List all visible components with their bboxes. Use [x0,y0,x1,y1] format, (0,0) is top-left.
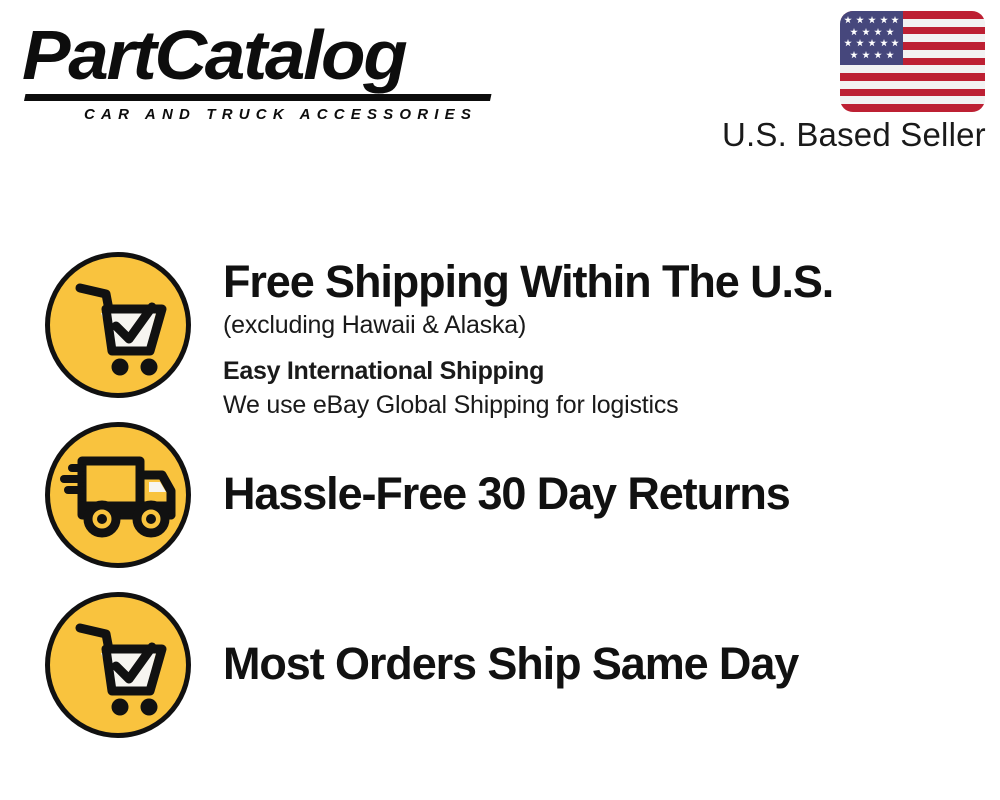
feature-text: Hassle-Free 30 Day Returns [223,420,1000,520]
feature-title: Most Orders Ship Same Day [223,638,1000,690]
feature-subtext: (excluding Hawaii & Alaska) [223,308,1000,342]
flag-stripe [840,96,985,104]
feature-subtext: Easy International Shipping [223,354,1000,388]
feature-text: Most Orders Ship Same Day [223,590,1000,690]
feature-text: Free Shipping Within The U.S. (excluding… [223,250,1000,422]
us-based-seller-label: U.S. Based Seller [722,116,985,154]
feature-row: Free Shipping Within The U.S. (excluding… [0,250,1000,422]
us-flag-badge [840,11,985,112]
flag-stripe [840,89,985,97]
us-flag-icon [840,11,985,112]
flag-stripe [840,104,985,112]
shopping-cart-check-icon [45,592,191,738]
delivery-truck-icon [45,422,191,568]
feature-row: Hassle-Free 30 Day Returns [0,420,1000,592]
page-header: PartCatalog CAR AND TRUCK ACCESSORIES [0,0,1000,175]
feature-title: Free Shipping Within The U.S. [223,256,1000,308]
brand-logo-underline [24,94,491,101]
feature-subtext: We use eBay Global Shipping for logistic… [223,388,1000,422]
feature-title: Hassle-Free 30 Day Returns [223,468,1000,520]
flag-canton [840,11,903,65]
brand-wordmark: PartCatalog [22,18,405,92]
flag-stripe [840,81,985,89]
flag-stripe [840,65,985,73]
flag-stripe [840,73,985,81]
shopping-cart-check-icon [45,252,191,398]
brand-logo: PartCatalog CAR AND TRUCK ACCESSORIES [22,18,492,113]
brand-tagline: CAR AND TRUCK ACCESSORIES [84,106,477,123]
feature-row: Most Orders Ship Same Day [0,590,1000,762]
